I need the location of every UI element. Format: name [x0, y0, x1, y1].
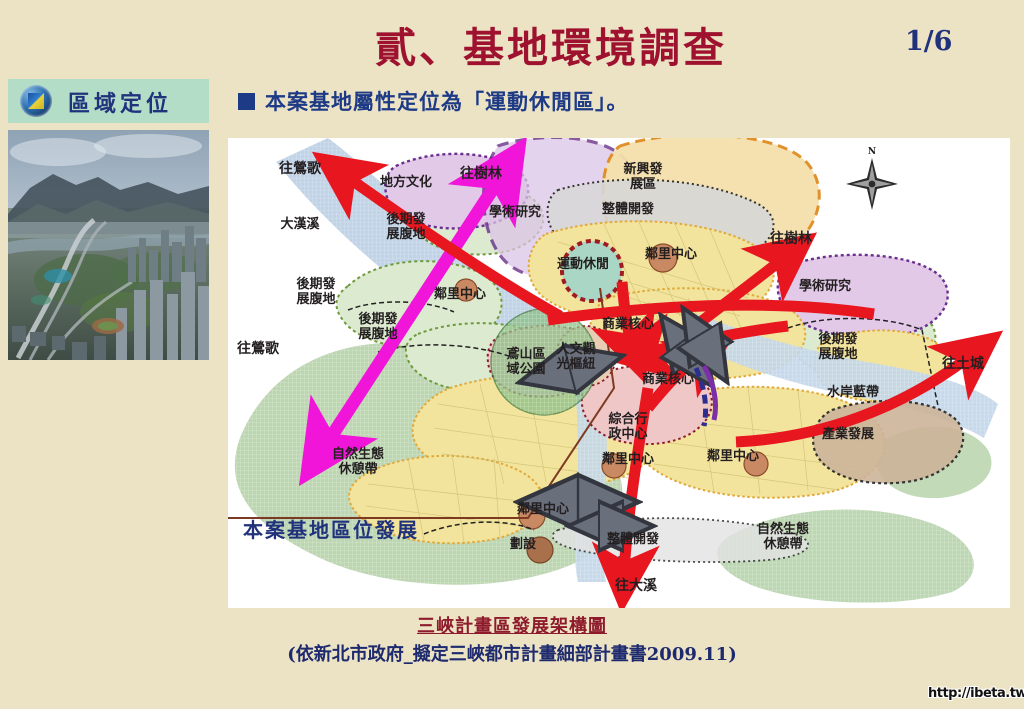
map-zone-label-neighborhood-1: 鄰里中心 — [434, 286, 486, 302]
map-zone-label-commercial-2: 商業核心 — [642, 371, 694, 387]
map-zone-label-local-culture: 地方文化 — [380, 174, 432, 190]
map-direction-label-to-shulin-left: 往樹林 — [460, 165, 502, 182]
map-direction-label-to-shulin-right: 往樹林 — [770, 230, 812, 247]
map-zone-label-neighborhood-4: 鄰里中心 — [707, 448, 759, 464]
map-zone-label-dahan-river: 大漢溪 — [280, 216, 320, 232]
map-zone-label-late-dev-3: 後期發展腹地 — [358, 311, 397, 342]
map-zone-label-commercial-1: 商業核心 — [602, 316, 654, 332]
map-zone-label-planning-mark: 劃設 — [510, 536, 537, 552]
map-zone-label-admin-center: 綜合行政中心 — [608, 411, 647, 442]
site-watermark: http://ibeta.tw — [928, 686, 1024, 701]
bullet-text: 本案基地屬性定位為「運動休閒區」。 — [265, 86, 629, 116]
region-badge-icon — [20, 85, 52, 117]
map-zone-label-overall-dev-bottom: 整體開發 — [606, 531, 659, 547]
site-development-label: 本案基地區位發展 — [243, 514, 419, 543]
map-direction-label-to-tucheng: 往土城 — [942, 355, 984, 372]
page-title: 貳、基地環境調查 — [375, 14, 935, 74]
map-direction-label-to-yingge-left: 往鶯歌 — [237, 340, 280, 357]
aerial-city-photo — [8, 130, 209, 360]
bullet-row: 本案基地屬性定位為「運動休閒區」。 — [238, 86, 629, 116]
map-zone-label-neighborhood-2: 鄰里中心 — [645, 246, 697, 262]
map-zone-label-academic-right: 學術研究 — [799, 278, 851, 294]
svg-text:N: N — [868, 147, 876, 157]
figure-caption-sub: (依新北市政府_擬定三峽都市計畫細部計畫書2009.11) — [0, 640, 1024, 666]
map-zone-label-overall-dev-top: 整體開發 — [601, 201, 654, 217]
map-zone-label-neighborhood-5: 鄰里中心 — [517, 501, 569, 517]
map-zone-label-waterfront-blue: 水岸藍帶 — [827, 384, 879, 400]
map-zone-label-yuanshan-park: 鳶山區域公園 — [506, 346, 545, 377]
square-bullet-icon — [238, 93, 255, 110]
map-direction-label-to-yingge-top: 往鶯歌 — [279, 160, 322, 177]
map-zone-label-late-dev-1: 後期發展腹地 — [386, 211, 425, 242]
sidebar-header: 區域定位 — [8, 79, 209, 123]
map-zone-label-industry-dev: 產業發展 — [821, 426, 875, 442]
map-zone-label-neighborhood-3: 鄰里中心 — [602, 451, 654, 467]
map-direction-label-to-daxi: 往大溪 — [615, 577, 658, 594]
page-indicator: 1/6 — [905, 26, 952, 57]
map-zone-label-late-dev-2: 後期發展腹地 — [296, 276, 335, 307]
map-zone-label-eco-belt-right: 自然生態休憩帶 — [757, 521, 809, 552]
map-zone-label-late-dev-right: 後期發展腹地 — [818, 331, 857, 362]
figure-caption-main: 三峽計畫區發展架構圖 — [0, 612, 1024, 638]
sidebar-title: 區域定位 — [68, 86, 172, 118]
map-zone-label-sports-leisure: 運動休閒 — [557, 256, 609, 272]
map-zone-label-culture-tourism: 人文觀光樞紐 — [555, 341, 595, 372]
map-zone-label-eco-belt-left: 自然生態休憩帶 — [332, 446, 384, 477]
map-zone-label-academic-left: 學術研究 — [489, 204, 541, 220]
